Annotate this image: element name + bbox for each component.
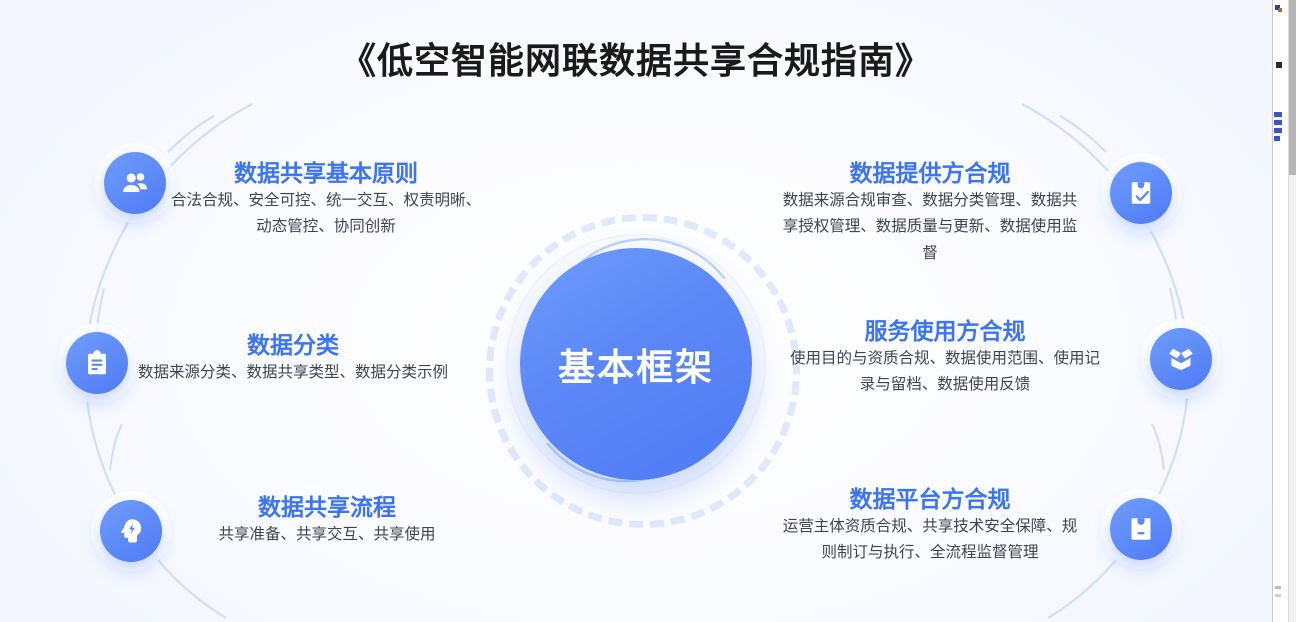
- brain-bolt-icon: [100, 500, 162, 562]
- right-item-3-text: 数据平台方合规 运营主体资质合规、共享技术安全保障、规则制订与执行、全流程监督管…: [780, 486, 1080, 567]
- document-check-icon: [1110, 162, 1172, 224]
- right-item-3-title: 数据平台方合规: [780, 486, 1080, 514]
- center-label: 基本框架: [558, 337, 714, 391]
- center-node: 基本框架: [520, 248, 752, 480]
- infographic-canvas: 《低空智能网联数据共享合规指南》 基本框架: [0, 0, 1296, 622]
- right-item-1-title: 数据提供方合规: [780, 160, 1080, 188]
- left-item-2-desc: 数据来源分类、数据共享类型、数据分类示例: [128, 360, 458, 387]
- adjacent-window-sliver: [1272, 0, 1296, 622]
- right-item-1-text: 数据提供方合规 数据来源合规审查、数据分类管理、数据共享授权管理、数据质量与更新…: [780, 160, 1080, 268]
- left-item-3-desc: 共享准备、共享交互、共享使用: [162, 522, 492, 549]
- left-item-2-title: 数据分类: [128, 332, 458, 360]
- open-box-icon: [1150, 328, 1212, 390]
- right-item-1-desc: 数据来源合规审查、数据分类管理、数据共享授权管理、数据质量与更新、数据使用监督: [780, 188, 1080, 268]
- vertical-scrollbar[interactable]: [1288, 0, 1296, 622]
- right-item-3-desc: 运营主体资质合规、共享技术安全保障、规则制订与执行、全流程监督管理: [780, 514, 1080, 567]
- right-item-2-text: 服务使用方合规 使用目的与资质合规、数据使用范围、使用记录与留档、数据使用反馈: [790, 318, 1100, 399]
- left-item-3-title: 数据共享流程: [162, 494, 492, 522]
- left-item-1-desc: 合法合规、安全可控、统一交互、权责明晰、动态管控、协同创新: [166, 188, 486, 241]
- right-item-2-desc: 使用目的与资质合规、数据使用范围、使用记录与留档、数据使用反馈: [790, 346, 1100, 399]
- left-item-3-text: 数据共享流程 共享准备、共享交互、共享使用: [162, 494, 492, 548]
- right-item-2-title: 服务使用方合规: [790, 318, 1100, 346]
- center-circle: 基本框架: [520, 248, 752, 480]
- shopping-bag-icon: [1110, 498, 1172, 560]
- clipboard-icon: [66, 332, 128, 394]
- left-item-2-text: 数据分类 数据来源分类、数据共享类型、数据分类示例: [128, 332, 458, 386]
- left-item-1-title: 数据共享基本原则: [166, 160, 486, 188]
- left-item-1-text: 数据共享基本原则 合法合规、安全可控、统一交互、权责明晰、动态管控、协同创新: [166, 160, 486, 241]
- page-title: 《低空智能网联数据共享合规指南》: [0, 32, 1272, 84]
- users-icon: [104, 152, 166, 214]
- scrollbar-thumb[interactable]: [1289, 0, 1296, 175]
